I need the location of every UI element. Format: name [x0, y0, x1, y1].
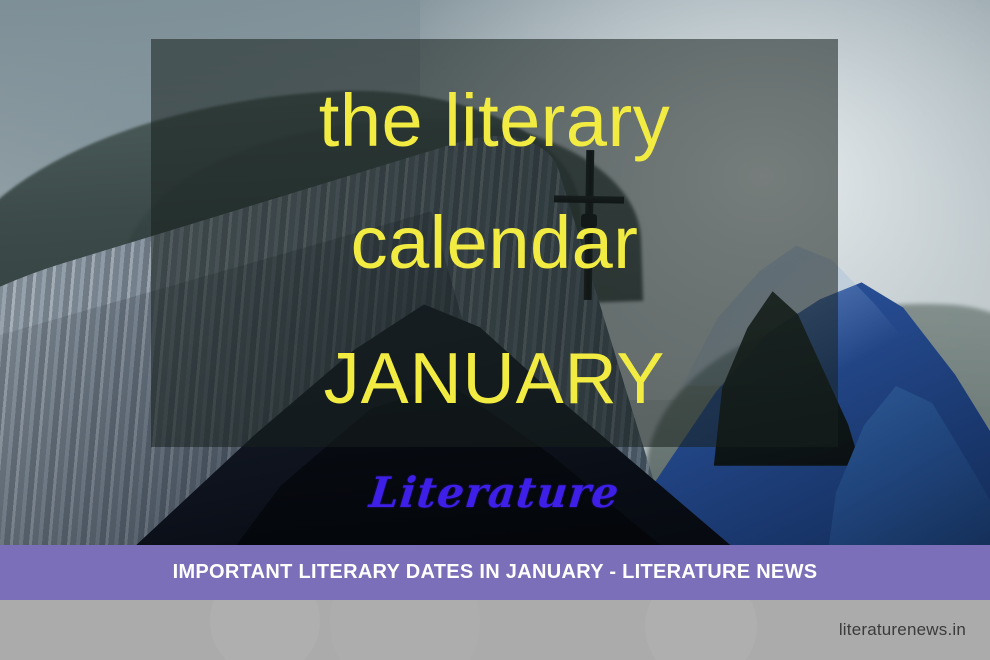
caption-text: IMPORTANT LITERARY DATES IN JANUARY - LI… — [173, 561, 818, 584]
footer-decorative-circle — [210, 600, 320, 660]
footer-decorative-circle — [645, 600, 757, 660]
month-label: JANUARY — [151, 336, 838, 422]
page-title: the literary calendar — [151, 60, 838, 304]
brand-logo: Literature — [148, 468, 840, 517]
title-line-2: calendar — [151, 182, 838, 304]
poster-canvas: the literary calendar JANUARY Literature… — [0, 0, 990, 660]
site-url: literaturenews.in — [839, 600, 966, 660]
caption-band: IMPORTANT LITERARY DATES IN JANUARY - LI… — [0, 545, 990, 600]
footer-bar: literaturenews.in — [0, 600, 990, 660]
footer-decorative-circle — [330, 600, 480, 660]
title-line-1: the literary — [151, 60, 838, 182]
